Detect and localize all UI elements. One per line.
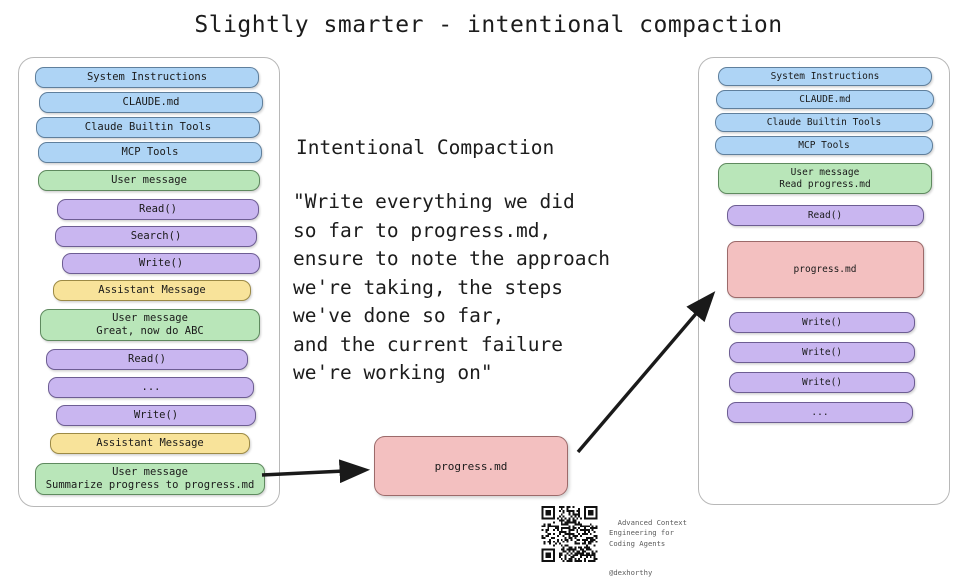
context-block: Claude Builtin Tools [36, 117, 260, 138]
context-block-label: CLAUDE.md [123, 96, 180, 109]
context-block-label: Read() [808, 210, 842, 222]
compaction-prompt-quote: "Write everything we did so far to progr… [293, 188, 610, 388]
page-title: Slightly smarter - intentional compactio… [0, 12, 977, 38]
context-block: Write() [62, 253, 260, 274]
context-block: Assistant Message [53, 280, 251, 301]
context-block: Write() [729, 312, 915, 333]
context-block: Read() [57, 199, 259, 220]
context-block: CLAUDE.md [716, 90, 934, 109]
context-block: ... [727, 402, 913, 423]
context-block: User messageSummarize progress to progre… [35, 463, 265, 495]
context-block-label: Read() [139, 203, 177, 216]
context-block: System Instructions [35, 67, 259, 88]
qr-code[interactable] [541, 506, 598, 562]
context-block-stack-left: System InstructionsCLAUDE.mdClaude Built… [19, 58, 279, 506]
context-block: System Instructions [718, 67, 932, 86]
context-block-label: progress.md [794, 264, 857, 276]
context-block-label: Claude Builtin Tools [767, 117, 881, 129]
context-block-label: User message [112, 466, 188, 479]
context-panel-before: System InstructionsCLAUDE.mdClaude Built… [18, 57, 280, 507]
context-block-sublabel: Read progress.md [779, 179, 871, 191]
context-block: CLAUDE.md [39, 92, 263, 113]
context-block-label: CLAUDE.md [799, 94, 850, 106]
context-block: User message [38, 170, 260, 191]
context-block-label: System Instructions [87, 71, 207, 84]
context-block-sublabel: Great, now do ABC [96, 325, 203, 338]
context-block-label: Write() [802, 317, 842, 329]
context-block: MCP Tools [38, 142, 262, 163]
progress-md-artifact-card: progress.md [374, 436, 568, 496]
context-block: Assistant Message [50, 433, 250, 454]
context-block-label: Assistant Message [96, 437, 203, 450]
context-block: Claude Builtin Tools [715, 113, 933, 132]
context-block: Write() [729, 372, 915, 393]
context-block: progress.md [727, 241, 924, 298]
context-block: Read() [46, 349, 248, 370]
context-panel-after: System InstructionsCLAUDE.mdClaude Built… [698, 57, 950, 505]
attribution-lines: Advanced Context Engineering for Coding … [609, 518, 687, 547]
context-block-label: ... [811, 407, 828, 419]
attribution-handle: @dexhorthy [609, 568, 687, 578]
context-block: User messageRead progress.md [718, 163, 932, 194]
intentional-compaction-heading: Intentional Compaction [296, 136, 554, 159]
context-block-label: ... [142, 381, 161, 394]
context-block-label: Search() [131, 230, 182, 243]
context-block: Read() [727, 205, 924, 226]
context-block-label: Write() [802, 347, 842, 359]
context-block: Search() [55, 226, 257, 247]
context-block-label: User message [111, 174, 187, 187]
context-block-label: Write() [139, 257, 183, 270]
context-block-label: Claude Builtin Tools [85, 121, 211, 134]
progress-md-artifact-label: progress.md [435, 460, 508, 473]
context-block-label: User message [791, 167, 860, 179]
context-block: Write() [729, 342, 915, 363]
context-block: MCP Tools [715, 136, 933, 155]
context-block: User messageGreat, now do ABC [40, 309, 260, 341]
context-block-label: Read() [128, 353, 166, 366]
context-block-label: Assistant Message [98, 284, 205, 297]
context-block-label: System Instructions [771, 71, 880, 83]
context-block: Write() [56, 405, 256, 426]
context-block-sublabel: Summarize progress to progress.md [46, 479, 255, 492]
context-block-label: Write() [134, 409, 178, 422]
attribution-block: Advanced Context Engineering for Coding … [609, 508, 687, 588]
context-block-label: MCP Tools [798, 140, 849, 152]
context-block-label: User message [112, 312, 188, 325]
context-block-label: Write() [802, 377, 842, 389]
context-block: ... [48, 377, 254, 398]
context-block-label: MCP Tools [122, 146, 179, 159]
context-block-stack-right: System InstructionsCLAUDE.mdClaude Built… [699, 58, 949, 504]
qr-code-graphic [541, 506, 598, 562]
